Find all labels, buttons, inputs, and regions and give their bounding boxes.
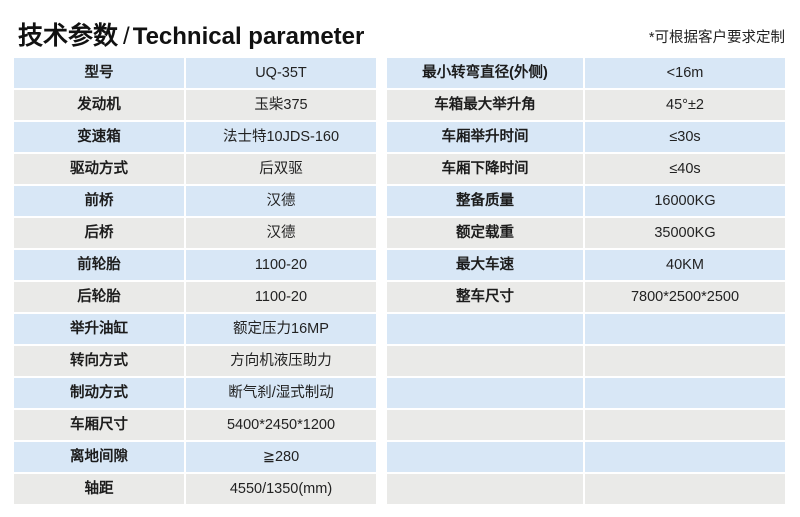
- spec-label-cell: 最小转弯直径(外侧): [387, 58, 583, 88]
- spec-label-cell: 转向方式: [14, 346, 184, 376]
- spec-value-cell: 5400*2450*1200: [186, 410, 376, 440]
- spec-label-cell: 整车尺寸: [387, 282, 583, 312]
- table-row: 最小转弯直径(外侧)<16m: [387, 58, 785, 88]
- table-row: 转向方式方向机液压助力: [14, 346, 376, 376]
- spec-label-cell: [387, 346, 583, 376]
- spec-value-cell: 断气刹/湿式制动: [186, 378, 376, 408]
- spec-label-cell: 整备质量: [387, 186, 583, 216]
- spec-label-cell: [387, 410, 583, 440]
- spec-label-cell: 车厢下降时间: [387, 154, 583, 184]
- page-header: 技术参数/Technical parameter *可根据客户要求定制: [0, 0, 800, 56]
- table-row: [387, 346, 785, 376]
- spec-label-cell: 车厢尺寸: [14, 410, 184, 440]
- spec-label-cell: 举升油缸: [14, 314, 184, 344]
- spec-label-cell: 型号: [14, 58, 184, 88]
- spec-value-cell: [585, 346, 785, 376]
- spec-label-cell: 车箱最大举升角: [387, 90, 583, 120]
- table-row: 额定载重35000KG: [387, 218, 785, 248]
- table-row: 车厢下降时间≤40s: [387, 154, 785, 184]
- spec-label-cell: [387, 442, 583, 472]
- right-spec-table: 最小转弯直径(外侧)<16m车箱最大举升角45°±2车厢举升时间≤30s车厢下降…: [387, 58, 785, 506]
- page-title-separator: /: [118, 23, 133, 50]
- spec-label-cell: 车厢举升时间: [387, 122, 583, 152]
- spec-value-cell: UQ-35T: [186, 58, 376, 88]
- spec-value-cell: 额定压力16MP: [186, 314, 376, 344]
- spec-label-cell: 制动方式: [14, 378, 184, 408]
- table-row: 最大车速40KM: [387, 250, 785, 280]
- table-row: 轴距4550/1350(mm): [14, 474, 376, 504]
- left-spec-table: 型号UQ-35T发动机玉柴375变速箱法士特10JDS-160驱动方式后双驱前桥…: [14, 58, 376, 506]
- page-title-chinese: 技术参数: [18, 22, 118, 50]
- spec-label-cell: 驱动方式: [14, 154, 184, 184]
- table-row: 整备质量16000KG: [387, 186, 785, 216]
- spec-value-cell: ≧280: [186, 442, 376, 472]
- spec-value-cell: 方向机液压助力: [186, 346, 376, 376]
- spec-label-cell: 前轮胎: [14, 250, 184, 280]
- table-row: 车箱最大举升角45°±2: [387, 90, 785, 120]
- spec-value-cell: 45°±2: [585, 90, 785, 120]
- table-row: [387, 474, 785, 504]
- spec-value-cell: 汉德: [186, 186, 376, 216]
- spec-value-cell: 1100-20: [186, 282, 376, 312]
- spec-value-cell: 35000KG: [585, 218, 785, 248]
- spec-value-cell: 16000KG: [585, 186, 785, 216]
- spec-value-cell: ≤40s: [585, 154, 785, 184]
- page-title: 技术参数/Technical parameter: [18, 16, 364, 52]
- table-row: 后轮胎1100-20: [14, 282, 376, 312]
- spec-value-cell: 玉柴375: [186, 90, 376, 120]
- table-row: 前轮胎1100-20: [14, 250, 376, 280]
- customization-note: *可根据客户要求定制: [649, 26, 785, 47]
- spec-value-cell: 后双驱: [186, 154, 376, 184]
- spec-value-cell: 7800*2500*2500: [585, 282, 785, 312]
- table-row: [387, 410, 785, 440]
- table-row: 车厢尺寸5400*2450*1200: [14, 410, 376, 440]
- table-row: 制动方式断气刹/湿式制动: [14, 378, 376, 408]
- table-row: 车厢举升时间≤30s: [387, 122, 785, 152]
- spec-value-cell: ≤30s: [585, 122, 785, 152]
- page-title-english: Technical parameter: [133, 23, 365, 50]
- table-row: 举升油缸额定压力16MP: [14, 314, 376, 344]
- spec-label-cell: [387, 474, 583, 504]
- spec-value-cell: 40KM: [585, 250, 785, 280]
- spec-label-cell: 变速箱: [14, 122, 184, 152]
- spec-value-cell: <16m: [585, 58, 785, 88]
- spec-value-cell: [585, 474, 785, 504]
- spec-value-cell: [585, 314, 785, 344]
- spec-label-cell: 后轮胎: [14, 282, 184, 312]
- table-row: [387, 378, 785, 408]
- table-row: 型号UQ-35T: [14, 58, 376, 88]
- spec-value-cell: 1100-20: [186, 250, 376, 280]
- table-row: 变速箱法士特10JDS-160: [14, 122, 376, 152]
- spec-value-cell: 4550/1350(mm): [186, 474, 376, 504]
- spec-label-cell: 额定载重: [387, 218, 583, 248]
- spec-label-cell: [387, 314, 583, 344]
- table-row: 离地间隙≧280: [14, 442, 376, 472]
- table-row: [387, 442, 785, 472]
- spec-label-cell: 后桥: [14, 218, 184, 248]
- spec-label-cell: 离地间隙: [14, 442, 184, 472]
- spec-label-cell: 前桥: [14, 186, 184, 216]
- table-row: 前桥汉德: [14, 186, 376, 216]
- spec-value-cell: [585, 442, 785, 472]
- spec-value-cell: 汉德: [186, 218, 376, 248]
- table-row: 后桥汉德: [14, 218, 376, 248]
- spec-value-cell: [585, 378, 785, 408]
- table-row: [387, 314, 785, 344]
- spec-label-cell: 发动机: [14, 90, 184, 120]
- spec-value-cell: 法士特10JDS-160: [186, 122, 376, 152]
- table-row: 发动机玉柴375: [14, 90, 376, 120]
- table-row: 驱动方式后双驱: [14, 154, 376, 184]
- table-row: 整车尺寸7800*2500*2500: [387, 282, 785, 312]
- spec-value-cell: [585, 410, 785, 440]
- spec-label-cell: 轴距: [14, 474, 184, 504]
- spec-label-cell: 最大车速: [387, 250, 583, 280]
- spec-label-cell: [387, 378, 583, 408]
